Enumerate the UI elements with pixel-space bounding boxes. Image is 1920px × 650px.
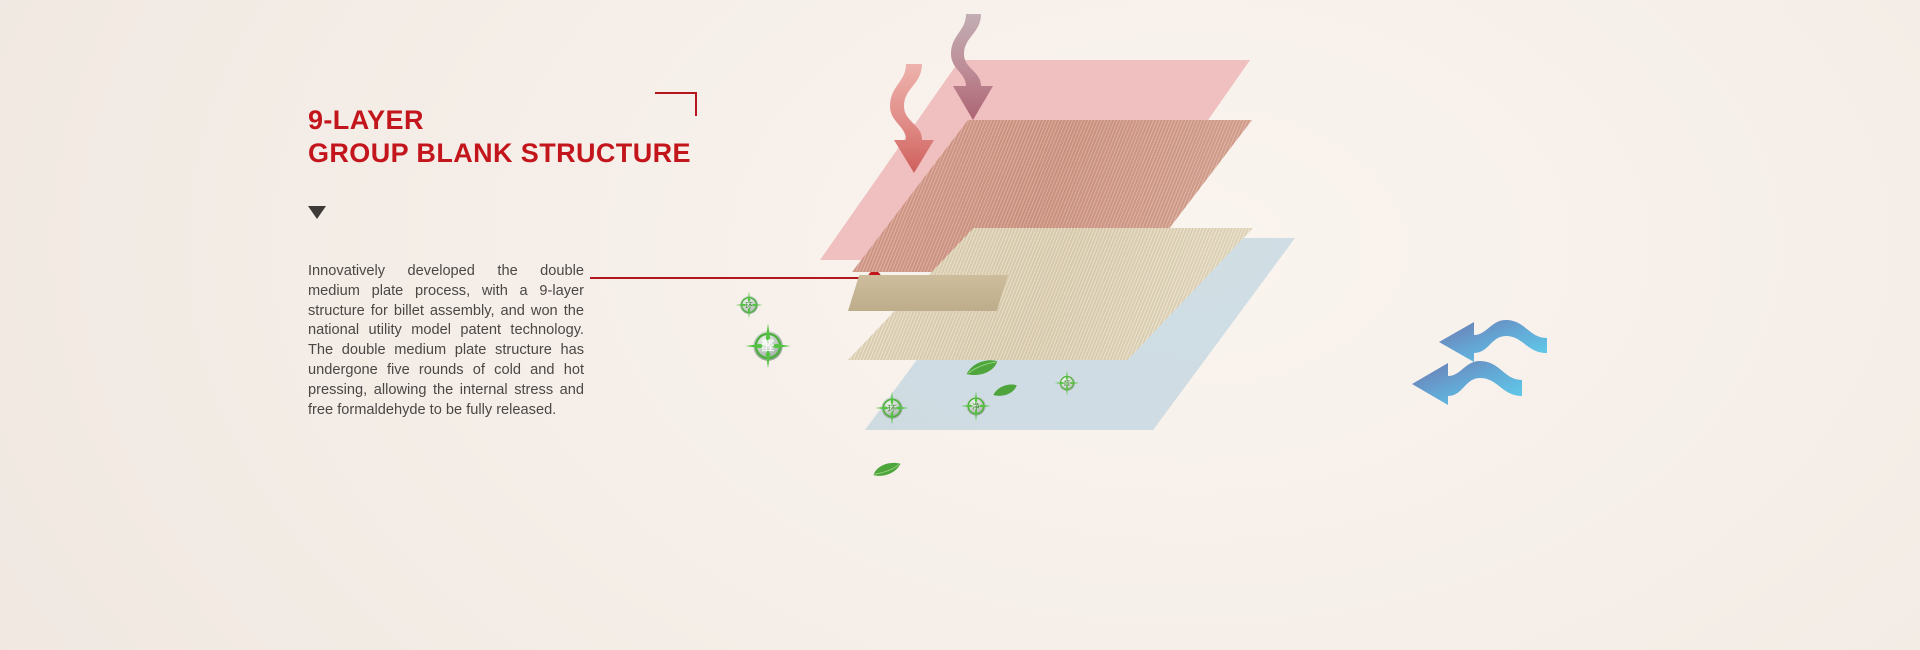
leaf-2-icon <box>992 383 1018 398</box>
leaf-1-icon <box>965 358 999 378</box>
title-line-1: 9-LAYER <box>308 104 828 137</box>
blue-up-left-arrow-2-icon <box>1408 342 1526 406</box>
svg-text:环: 环 <box>888 403 897 413</box>
svg-text:环: 环 <box>745 301 752 310</box>
eco-badge-1-icon: 环 <box>732 288 766 322</box>
corner-bracket-icon <box>655 92 697 116</box>
svg-text:醛: 醛 <box>761 338 774 353</box>
leaf-3-icon <box>872 460 902 478</box>
body-paragraph: Innovatively developed the double medium… <box>308 262 584 420</box>
eco-badge-5-icon: 醛 <box>1052 368 1082 398</box>
down-triangle-icon <box>308 206 326 219</box>
svg-text:净: 净 <box>972 401 980 411</box>
red-down-arrow-2-icon <box>945 12 1003 124</box>
title-line-2: GROUP BLANK STRUCTURE <box>308 137 828 170</box>
eco-badge-3-icon: 环 <box>872 388 912 428</box>
eco-badge-2-icon: 醛 <box>742 320 794 372</box>
red-down-arrow-1-icon <box>884 62 946 177</box>
board-illustration: 环 醛 <box>760 0 1920 650</box>
eco-badge-4-icon: 净 <box>958 388 994 424</box>
slide-canvas: 9-LAYER GROUP BLANK STRUCTURE Innovative… <box>0 0 1920 650</box>
board-edge-face <box>848 275 1008 311</box>
page-title: 9-LAYER GROUP BLANK STRUCTURE <box>308 104 828 170</box>
